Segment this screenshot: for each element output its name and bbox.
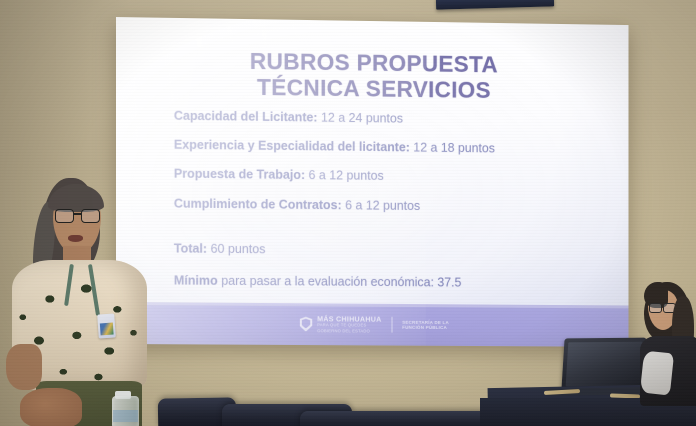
bottle-label	[113, 410, 138, 422]
slide-bullet-4-value: 6 a 12 puntos	[342, 198, 420, 213]
slide-total-lead: Total:	[174, 242, 207, 256]
slide-minimum-lead: Mínimo	[174, 274, 218, 288]
shield-emblem-icon	[299, 317, 312, 332]
slide-minimum-line: Mínimo para pasar a la evaluación económ…	[174, 275, 603, 291]
logo-sub-text-2: GOBIERNO DEL ESTADO	[317, 329, 381, 334]
eyeglasses-icon	[55, 209, 100, 221]
slide-bullet-4: Cumplimiento de Contratos: 6 a 12 puntos	[174, 197, 603, 214]
id-badge	[97, 313, 116, 338]
gov-logo: MÁS CHIHUAHUA PARA QUE TE QUEDES GOBIERN…	[299, 315, 381, 333]
logo-divider	[391, 317, 392, 333]
glasses-lens-left	[55, 209, 74, 223]
secretaria-line-2: FUNCIÓN PÚBLICA	[402, 325, 449, 331]
slide-bullet-2-lead: Experiencia y Especialidad del licitante…	[174, 138, 410, 155]
slide-bullet-2: Experiencia y Especialidad del licitante…	[174, 139, 603, 157]
glasses-lens-right	[81, 209, 100, 223]
presentation-photo-scene: RUBROS PROPUESTA TÉCNICA SERVICIOS Capac…	[0, 0, 696, 426]
logo-text-block: MÁS CHIHUAHUA PARA QUE TE QUEDES GOBIERN…	[317, 315, 381, 333]
eyeglasses-icon	[649, 303, 676, 311]
foreground-hand	[20, 388, 82, 426]
slide-bullet-3-value: 6 a 12 puntos	[305, 169, 384, 184]
slide-surface: RUBROS PROPUESTA TÉCNICA SERVICIOS Capac…	[116, 17, 629, 347]
seated-attendee-right	[640, 282, 696, 402]
projection-screen: RUBROS PROPUESTA TÉCNICA SERVICIOS Capac…	[116, 17, 629, 347]
slide-totals: Total: 60 puntos Mínimo para pasar a la …	[174, 243, 603, 310]
attendee-glasses-lens-left	[649, 303, 662, 313]
slide-bullet-3: Propuesta de Trabajo: 6 a 12 puntos	[174, 168, 603, 186]
presenter-mouth	[68, 235, 83, 242]
slide-bullet-list: Capacidad del Licitante: 12 a 24 puntos …	[174, 110, 603, 231]
attendee-scarf	[640, 351, 674, 396]
slide-footer-band: MÁS CHIHUAHUA PARA QUE TE QUEDES GOBIERN…	[116, 302, 629, 347]
slide-bullet-2-value: 12 a 18 puntos	[410, 141, 495, 156]
secretaria-logo-text: SECRETARÍA DE LA FUNCIÓN PÚBLICA	[402, 320, 449, 331]
slide-total-value: 60 puntos	[207, 242, 265, 256]
slide-bullet-1-lead: Capacidad del Licitante:	[174, 109, 318, 125]
presenter-arm	[6, 344, 42, 390]
slide-minimum-value: para pasar a la evaluación económica: 37…	[218, 274, 462, 290]
presenter-woman-standing	[6, 176, 156, 426]
laptop-screen	[561, 338, 646, 391]
slide-total-line: Total: 60 puntos	[174, 243, 603, 260]
slide-bullet-4-lead: Cumplimiento de Contratos:	[174, 196, 342, 212]
slide-title: RUBROS PROPUESTA TÉCNICA SERVICIOS	[116, 47, 629, 105]
slide-bullet-3-lead: Propuesta de Trabajo:	[174, 167, 305, 182]
slide-bullet-1-value: 12 a 24 puntos	[318, 111, 403, 126]
chair-foreground-3	[300, 411, 500, 426]
slide-bullet-1: Capacidad del Licitante: 12 a 24 puntos	[174, 110, 603, 129]
